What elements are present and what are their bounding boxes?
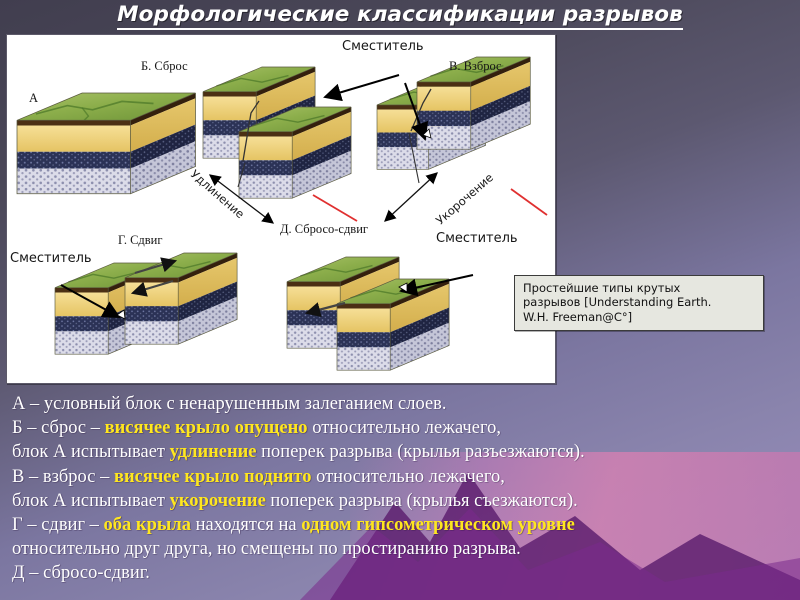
body-text-line: блок А испытывает удлинение поперек разр… bbox=[12, 440, 800, 464]
figure-label-block-b: Б. Сброс bbox=[141, 59, 188, 74]
highlighted-term: одном гипсометрическом уровне bbox=[301, 515, 575, 535]
body-text-run: блок А испытывает bbox=[12, 442, 170, 462]
highlighted-term: удлинение bbox=[170, 442, 257, 462]
page-title: Морфологические классификации разрывов bbox=[117, 2, 683, 30]
body-text-line: Б – сброс – висячее крыло опущено относи… bbox=[12, 416, 800, 440]
body-text-run: поперек разрыва (крылья съезжаются). bbox=[266, 491, 578, 511]
figure-panel: А Б. Сброс В. Взброс Г. Сдвиг Д. Сбросо-… bbox=[6, 34, 556, 384]
body-text-line: Г – сдвиг – оба крыла находятся на одном… bbox=[12, 513, 800, 537]
figure-label-fault-plane-1: Сместитель bbox=[342, 39, 424, 54]
figure-label-fault-plane-4: Сместитель bbox=[436, 231, 518, 246]
body-text-run: Д – сбросо-сдвиг. bbox=[12, 563, 150, 583]
body-text-run: относительно лежачего, bbox=[311, 467, 504, 487]
figure-label-block-a: А bbox=[29, 91, 38, 106]
figure-label-fault-plane-3: Сместитель bbox=[10, 251, 92, 266]
figure-label-block-g: Г. Сдвиг bbox=[118, 233, 162, 248]
body-text-run: находятся на bbox=[191, 515, 301, 535]
highlighted-term: висячее крыло опущено bbox=[105, 418, 308, 438]
source-caption-box: Простейшие типы крутых разрывов [Underst… bbox=[514, 275, 764, 331]
highlighted-term: висячее крыло поднято bbox=[114, 467, 312, 487]
highlighted-term: оба крыла bbox=[104, 515, 191, 535]
highlighted-term: укорочение bbox=[170, 491, 266, 511]
body-text-run: поперек разрыва (крылья разъезжаются). bbox=[257, 442, 585, 462]
body-text-run: относительно лежачего, bbox=[308, 418, 501, 438]
body-text-line: А – условный блок с ненарушенным залеган… bbox=[12, 392, 800, 416]
body-text-run: блок А испытывает bbox=[12, 491, 170, 511]
body-text-run: Г – сдвиг – bbox=[12, 515, 104, 535]
body-text-line: В – взброс – висячее крыло поднято относ… bbox=[12, 465, 800, 489]
body-text-line: Д – сбросо-сдвиг. bbox=[12, 561, 800, 585]
slide-title-bar: Морфологические классификации разрывов bbox=[0, 0, 800, 32]
slide-background: Морфологические классификации разрывов bbox=[0, 0, 800, 600]
body-text-run: В – взброс – bbox=[12, 467, 114, 487]
figure-label-block-d: Д. Сбросо-сдвиг bbox=[280, 222, 368, 237]
body-text-run: Б – сброс – bbox=[12, 418, 105, 438]
caption-line-3: W.H. Freeman@C°] bbox=[523, 310, 756, 324]
figure-label-block-v: В. Взброс bbox=[449, 59, 502, 74]
body-text-block: А – условный блок с ненарушенным залеган… bbox=[12, 392, 800, 586]
caption-line-2: разрывов [Understanding Earth. bbox=[523, 295, 756, 309]
fault-block-diagram bbox=[7, 35, 555, 383]
body-text-line: относительно друг друга, но смещены по п… bbox=[12, 537, 800, 561]
body-text-run: А – условный блок с ненарушенным залеган… bbox=[12, 394, 447, 414]
caption-line-1: Простейшие типы крутых bbox=[523, 281, 756, 295]
body-text-line: блок А испытывает укорочение поперек раз… bbox=[12, 489, 800, 513]
body-text-run: относительно друг друга, но смещены по п… bbox=[12, 539, 521, 559]
